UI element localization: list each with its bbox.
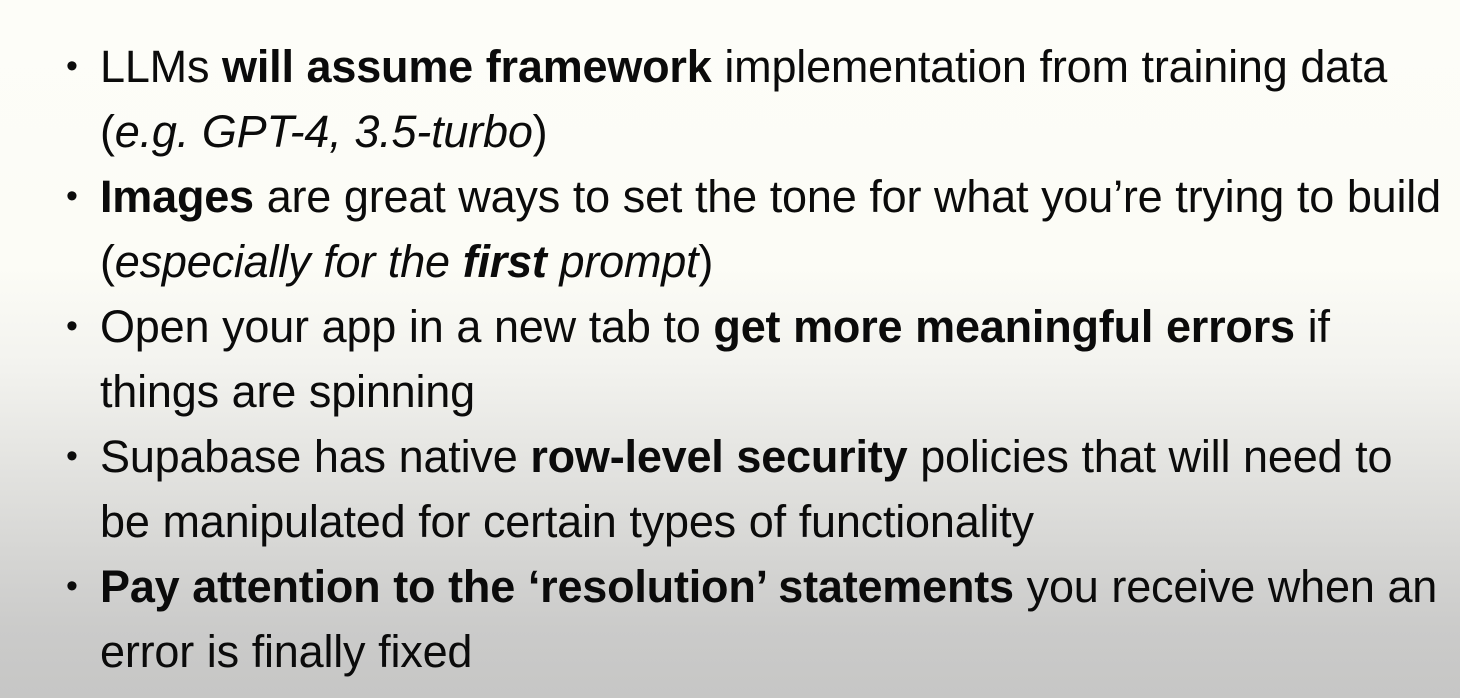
bullet-text: Images are great ways to set the tone fo… bbox=[100, 164, 1442, 294]
text-run-bold: Images bbox=[100, 171, 254, 222]
bullet-list: •LLMs will assume framework implementati… bbox=[0, 34, 1460, 684]
bullet-text: Supabase has native row-level security p… bbox=[100, 424, 1442, 554]
text-run-regular: LLMs bbox=[100, 41, 222, 92]
bullet-text: Open your app in a new tab to get more m… bbox=[100, 294, 1442, 424]
text-run-bolditalic: first bbox=[463, 236, 547, 287]
text-run-italic: e.g. GPT-4, 3.5-turbo bbox=[115, 106, 533, 157]
text-run-bold: get more meaningful errors bbox=[713, 301, 1294, 352]
text-run-regular: ) bbox=[698, 236, 713, 287]
text-run-regular: Supabase has native bbox=[100, 431, 530, 482]
text-run-bold: row-level security bbox=[530, 431, 907, 482]
bullet-point-icon: • bbox=[66, 294, 86, 359]
text-run-italic: prompt bbox=[547, 236, 699, 287]
text-run-regular: ) bbox=[533, 106, 548, 157]
text-run-bold: Pay attention to the ‘resolution’ statem… bbox=[100, 561, 1014, 612]
bullet-point-icon: • bbox=[66, 164, 86, 229]
bullet-text: LLMs will assume framework implementatio… bbox=[100, 34, 1442, 164]
slide-canvas: •LLMs will assume framework implementati… bbox=[0, 0, 1460, 698]
bullet-point-icon: • bbox=[66, 424, 86, 489]
bullet-point-icon: • bbox=[66, 34, 86, 99]
bullet-item: •Supabase has native row-level security … bbox=[0, 424, 1460, 554]
bullet-item: •Pay attention to the ‘resolution’ state… bbox=[0, 554, 1460, 684]
text-run-italic: especially for the bbox=[115, 236, 463, 287]
text-run-bold: will assume framework bbox=[222, 41, 712, 92]
bullet-text: Pay attention to the ‘resolution’ statem… bbox=[100, 554, 1442, 684]
bullet-item: •Images are great ways to set the tone f… bbox=[0, 164, 1460, 294]
bullet-item: •Open your app in a new tab to get more … bbox=[0, 294, 1460, 424]
text-run-regular: Open your app in a new tab to bbox=[100, 301, 713, 352]
bullet-point-icon: • bbox=[66, 554, 86, 619]
bullet-item: •LLMs will assume framework implementati… bbox=[0, 34, 1460, 164]
